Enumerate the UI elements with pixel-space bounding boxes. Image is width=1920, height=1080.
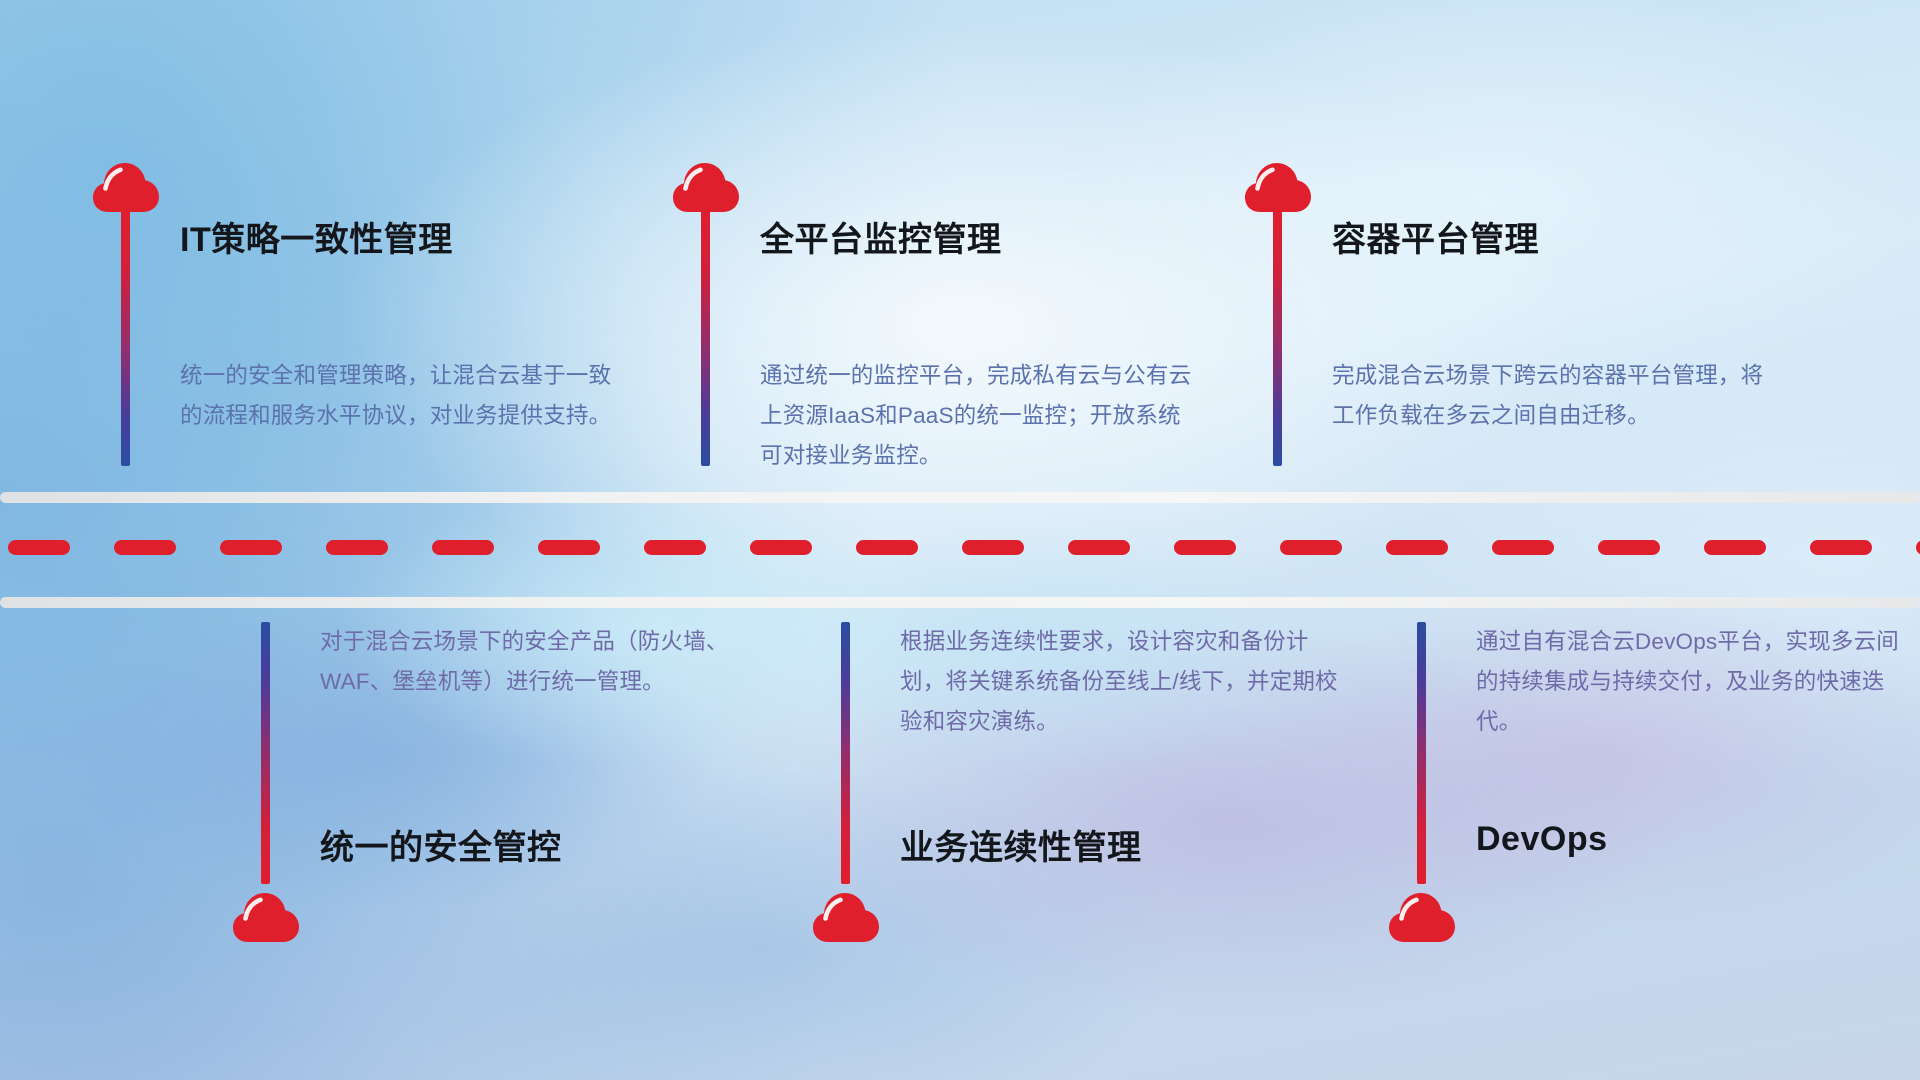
column-heading: IT策略一致性管理	[180, 212, 453, 261]
dash-segment	[1598, 540, 1660, 555]
column-stem	[261, 622, 270, 884]
dash-segment	[1916, 540, 1920, 555]
cloud-pin-icon	[1388, 890, 1456, 944]
column-body-text: 根据业务连续性要求，设计容灾和备份计划，将关键系统备份至线上/线下，并定期校验和…	[900, 622, 1340, 742]
dash-segment	[114, 540, 176, 555]
column-heading: 统一的安全管控	[320, 820, 562, 869]
column-body-text: 统一的安全和管理策略，让混合云基于一致的流程和服务水平协议，对业务提供支持。	[180, 356, 620, 436]
dash-segment	[962, 540, 1024, 555]
column-stem	[701, 208, 710, 466]
column-stem	[1417, 622, 1426, 884]
column-stem	[841, 622, 850, 884]
cloud-pin-icon	[92, 160, 160, 214]
column-body-text: 对于混合云场景下的安全产品（防火墙、WAF、堡垒机等）进行统一管理。	[320, 622, 760, 702]
dash-segment	[1492, 540, 1554, 555]
dash-segment	[750, 540, 812, 555]
dash-segment	[1386, 540, 1448, 555]
column-heading: 容器平台管理	[1332, 212, 1539, 261]
column-heading: 业务连续性管理	[900, 820, 1142, 869]
dash-segment	[1810, 540, 1872, 555]
cloud-pin-icon	[812, 890, 880, 944]
column-stem	[1273, 208, 1282, 466]
dash-segment	[326, 540, 388, 555]
cloud-pin-icon	[1244, 160, 1312, 214]
dash-segment	[644, 540, 706, 555]
dash-segment	[1174, 540, 1236, 555]
column-body-text: 通过统一的监控平台，完成私有云与公有云上资源IaaS和PaaS的统一监控；开放系…	[760, 356, 1200, 476]
column-stem	[121, 208, 130, 466]
dash-segment	[538, 540, 600, 555]
column-body-text: 通过自有混合云DevOps平台，实现多云间的持续集成与持续交付，及业务的快速迭代…	[1476, 622, 1916, 742]
dash-segment	[856, 540, 918, 555]
column-body-text: 完成混合云场景下跨云的容器平台管理，将工作负载在多云之间自由迁移。	[1332, 356, 1772, 436]
road-edge-line-top	[0, 492, 1920, 503]
dash-segment	[1280, 540, 1342, 555]
dash-segment	[8, 540, 70, 555]
cloud-pin-icon	[232, 890, 300, 944]
column-heading: 全平台监控管理	[760, 212, 1002, 261]
dash-segment	[220, 540, 282, 555]
road-edge-line-bottom	[0, 597, 1920, 608]
road-center-dashed-line	[0, 540, 1920, 555]
cloud-pin-icon	[672, 160, 740, 214]
dash-segment	[1068, 540, 1130, 555]
dash-segment	[1704, 540, 1766, 555]
column-heading: DevOps	[1476, 820, 1608, 859]
infographic-canvas: IT策略一致性管理 统一的安全和管理策略，让混合云基于一致的流程和服务水平协议，…	[0, 0, 1920, 1080]
dash-segment	[432, 540, 494, 555]
